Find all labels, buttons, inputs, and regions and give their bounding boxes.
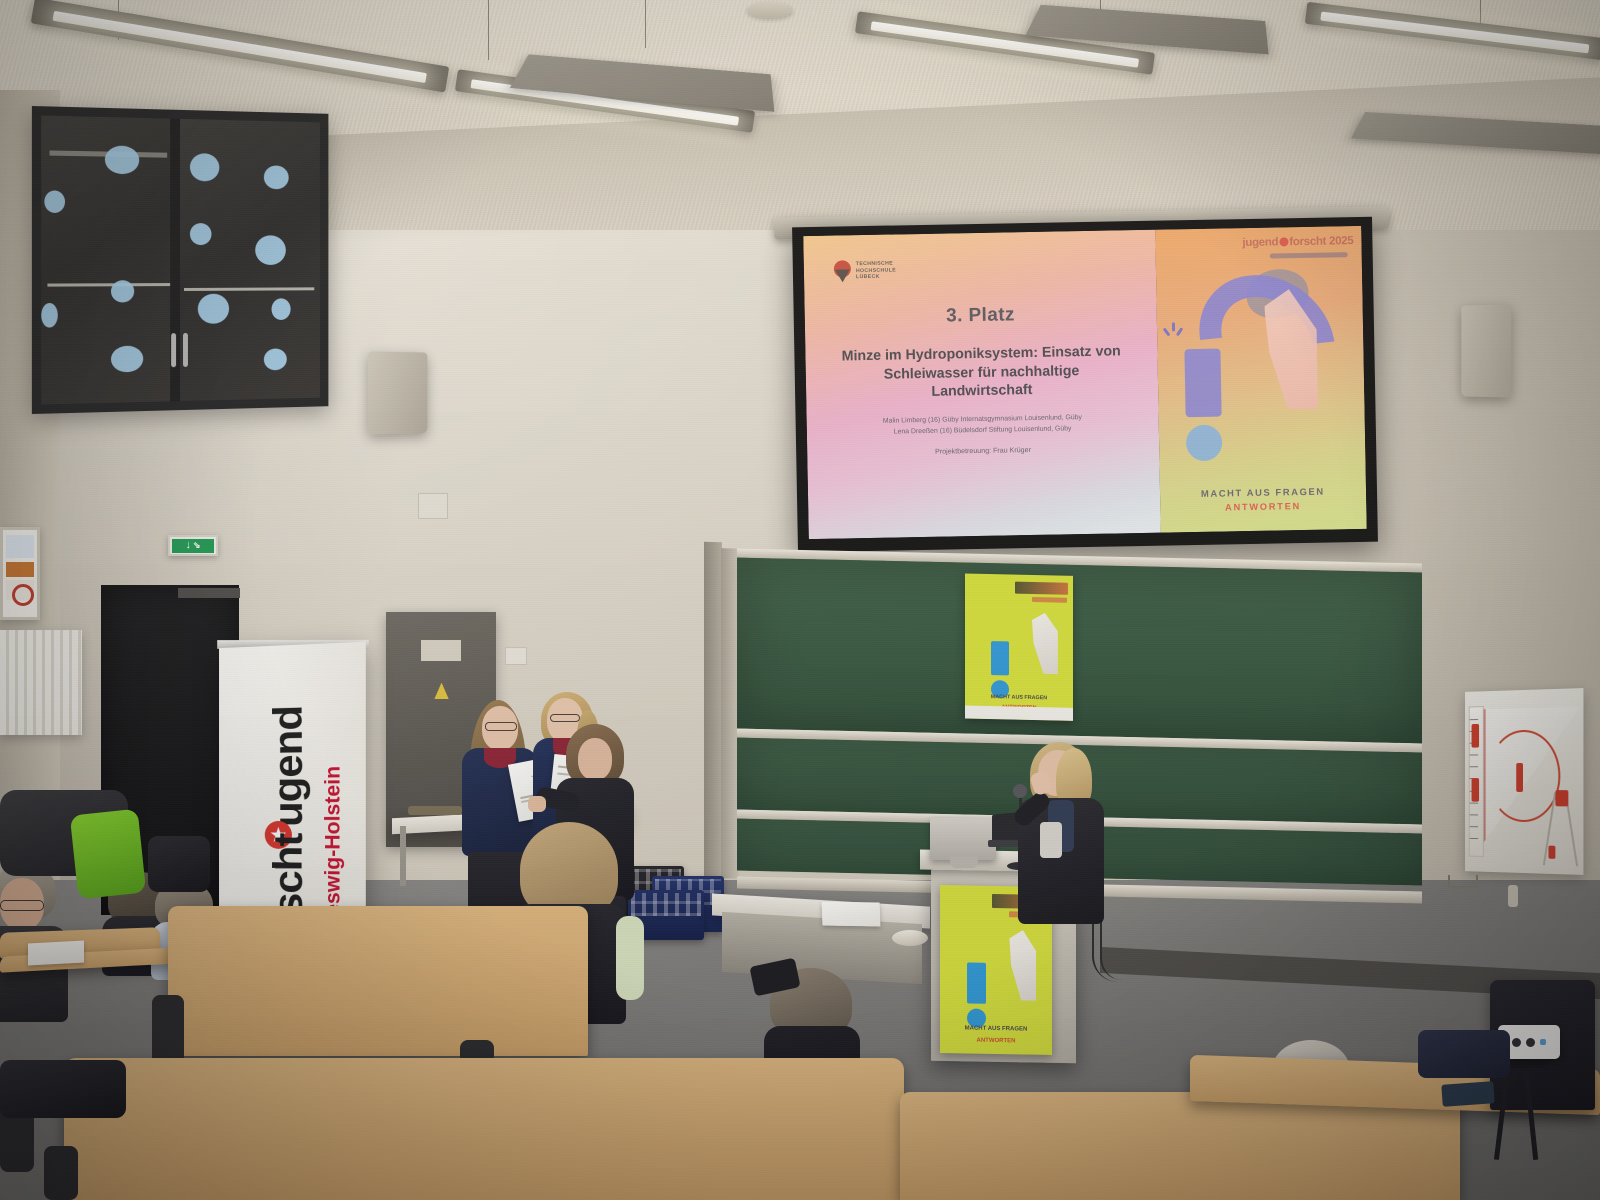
- table-leg: [400, 826, 406, 886]
- framed-information-poster: [0, 527, 40, 620]
- light-switch[interactable]: [505, 647, 527, 665]
- wall-speaker: [1461, 304, 1511, 397]
- ruler-grip: [1472, 778, 1479, 801]
- external-monitor-small: [1441, 1081, 1494, 1107]
- window-decal-dot: [111, 345, 143, 372]
- poster-hand: [1009, 930, 1036, 1001]
- papers-on-table: [822, 901, 881, 926]
- window-handle[interactable]: [171, 333, 176, 367]
- poster-band: [6, 535, 35, 558]
- tripod-leg: [1523, 1060, 1538, 1160]
- glasses-icon: [0, 900, 44, 911]
- phone-flash-icon: [1540, 1039, 1546, 1045]
- window-decal-dot: [255, 235, 286, 265]
- th-luebeck-logo-text: TECHNISCHE HOCHSCHULE LÜBECK: [856, 261, 896, 282]
- logo-line-3: LÜBECK: [856, 274, 896, 281]
- slide-mentor-line: Projektbetreuung: Frau Krüger: [829, 444, 1137, 458]
- window-decal-dot: [105, 146, 139, 175]
- hand: [528, 796, 546, 812]
- slide-project-title: Minze im Hydroponiksystem: Einsatz von S…: [831, 342, 1131, 403]
- window-reflection: [47, 283, 170, 287]
- geometry-set-board: [1465, 688, 1583, 875]
- items-on-side-table: [408, 806, 462, 815]
- blackboard-compass: [1544, 793, 1581, 868]
- poster-band: [6, 562, 35, 577]
- monitor-stand: [950, 856, 978, 868]
- glasses-icon: [485, 722, 517, 731]
- exit-sign-face: ↓ ⇘: [172, 539, 214, 553]
- exclamation-bar-shape: [1184, 349, 1221, 418]
- poster-footer-bar: [965, 705, 1073, 720]
- campaign-poster-on-blackboard: MACHT AUS FRAGEN ANTWORTEN: [965, 574, 1073, 721]
- bag-under-bench: [0, 1060, 126, 1118]
- light-suspension-wire: [488, 0, 489, 60]
- slide-content-panel: TECHNISCHE HOCHSCHULE LÜBECK 3. Platz Mi…: [803, 230, 1160, 539]
- poster-tagline-1: MACHT AUS FRAGEN: [947, 1025, 1046, 1033]
- poster-ring-icon: [12, 584, 34, 606]
- window-decal-dot: [190, 153, 219, 181]
- down-arrow-icon: ↓: [185, 540, 191, 551]
- door-upper-vent: [178, 588, 240, 598]
- window-decal-dot: [111, 280, 134, 302]
- interior-window: [32, 106, 329, 414]
- wall-speaker: [368, 351, 428, 434]
- poster-exclamation-bar: [991, 641, 1009, 676]
- blackboard-side-wing-outer: [704, 542, 722, 882]
- bench-bracket: [44, 1146, 78, 1200]
- poster-subline: [1032, 597, 1067, 603]
- poster-exclamation-dot: [967, 1008, 986, 1027]
- window-decal-dot: [264, 165, 289, 189]
- lecture-bench-row-1-right: [900, 1092, 1460, 1200]
- jugend-forscht-wordmark: jugendforscht 2025: [1165, 235, 1354, 250]
- jugend-forscht-star-icon: [1279, 237, 1288, 246]
- poster-wordmark: [1015, 582, 1068, 595]
- lectern-monitor: [930, 818, 996, 860]
- slide-campaign-panel: jugendforscht 2025 MACHT AUS FRAGEN ANTW…: [1155, 226, 1367, 533]
- warning-triangle-icon: [434, 683, 448, 699]
- camera-lens-icon: [1526, 1038, 1535, 1047]
- slide-rank-heading: 3. Platz: [805, 302, 1157, 330]
- poster-tagline-1: MACHT AUS FRAGEN: [971, 694, 1066, 702]
- draped-cloth: [1418, 1030, 1510, 1078]
- wordmark-underline: [1270, 252, 1348, 258]
- lecture-bench-row-2: [168, 906, 588, 1056]
- head: [578, 738, 612, 780]
- campaign-year: 2025: [1329, 235, 1354, 247]
- sleeve: [616, 916, 644, 1000]
- compass-head: [1555, 790, 1568, 806]
- window-handle[interactable]: [183, 333, 188, 367]
- campaign-tagline-line-1: MACHT AUS FRAGEN: [1159, 485, 1366, 500]
- lecture-bench-row-1: [64, 1058, 904, 1200]
- window-decal-dot: [190, 223, 212, 245]
- window-decal-dot: [198, 294, 229, 324]
- brand-suffix: forscht: [1289, 236, 1326, 249]
- light-suspension-wire: [645, 0, 646, 48]
- green-jacket: [70, 809, 146, 900]
- inner-shirt: [1040, 822, 1062, 858]
- th-luebeck-logo: TECHNISCHE HOCHSCHULE LÜBECK: [834, 259, 897, 282]
- presentation-slide: TECHNISCHE HOCHSCHULE LÜBECK 3. Platz Mi…: [803, 226, 1366, 539]
- poster-tagline-2: ANTWORTEN: [947, 1037, 1046, 1045]
- poster-exclamation-bar: [967, 963, 986, 1004]
- door-label-plate: [421, 640, 461, 661]
- th-luebeck-mark-icon: [834, 260, 851, 282]
- set-square-grip: [1516, 763, 1523, 792]
- spark-lines-icon: [1164, 321, 1184, 341]
- wall-control-panel[interactable]: [418, 493, 448, 519]
- microphone-icon: [1013, 784, 1027, 798]
- wall-hook: [1448, 875, 1478, 888]
- backpack: [148, 836, 210, 892]
- window-decal-dot: [44, 191, 65, 214]
- smoke-detector: [747, 2, 793, 18]
- ruler-grip: [1472, 724, 1479, 747]
- emergency-exit-sign: ↓ ⇘: [168, 535, 218, 556]
- crate-bottle-tops: [631, 893, 701, 916]
- paper-on-bench: [28, 941, 84, 966]
- campaign-tagline-line-2: ANTWORTEN: [1160, 500, 1367, 514]
- compass-grip: [1548, 846, 1555, 859]
- brand-prefix: jugend: [1242, 236, 1278, 249]
- radiator: [0, 630, 82, 735]
- slide-authors: Malin Limberg (16) Güby Internatsgymnasi…: [829, 412, 1137, 439]
- wall-sink-tap: [1508, 885, 1518, 907]
- banner-brand-prefix: ugend: [265, 656, 312, 827]
- exclamation-dot-shape: [1185, 425, 1222, 462]
- cake-plate: [892, 930, 928, 946]
- running-person-icon: ⇘: [193, 541, 201, 550]
- camera-lens-icon: [1512, 1038, 1521, 1047]
- lecture-hall-photo: ↓ ⇘ TECHNISCHE HOCHSCHULE LÜBECK: [0, 0, 1600, 1200]
- blackboard-panel-upper[interactable]: [737, 558, 1422, 744]
- glasses-icon: [550, 714, 580, 722]
- poster-hand: [1032, 613, 1058, 674]
